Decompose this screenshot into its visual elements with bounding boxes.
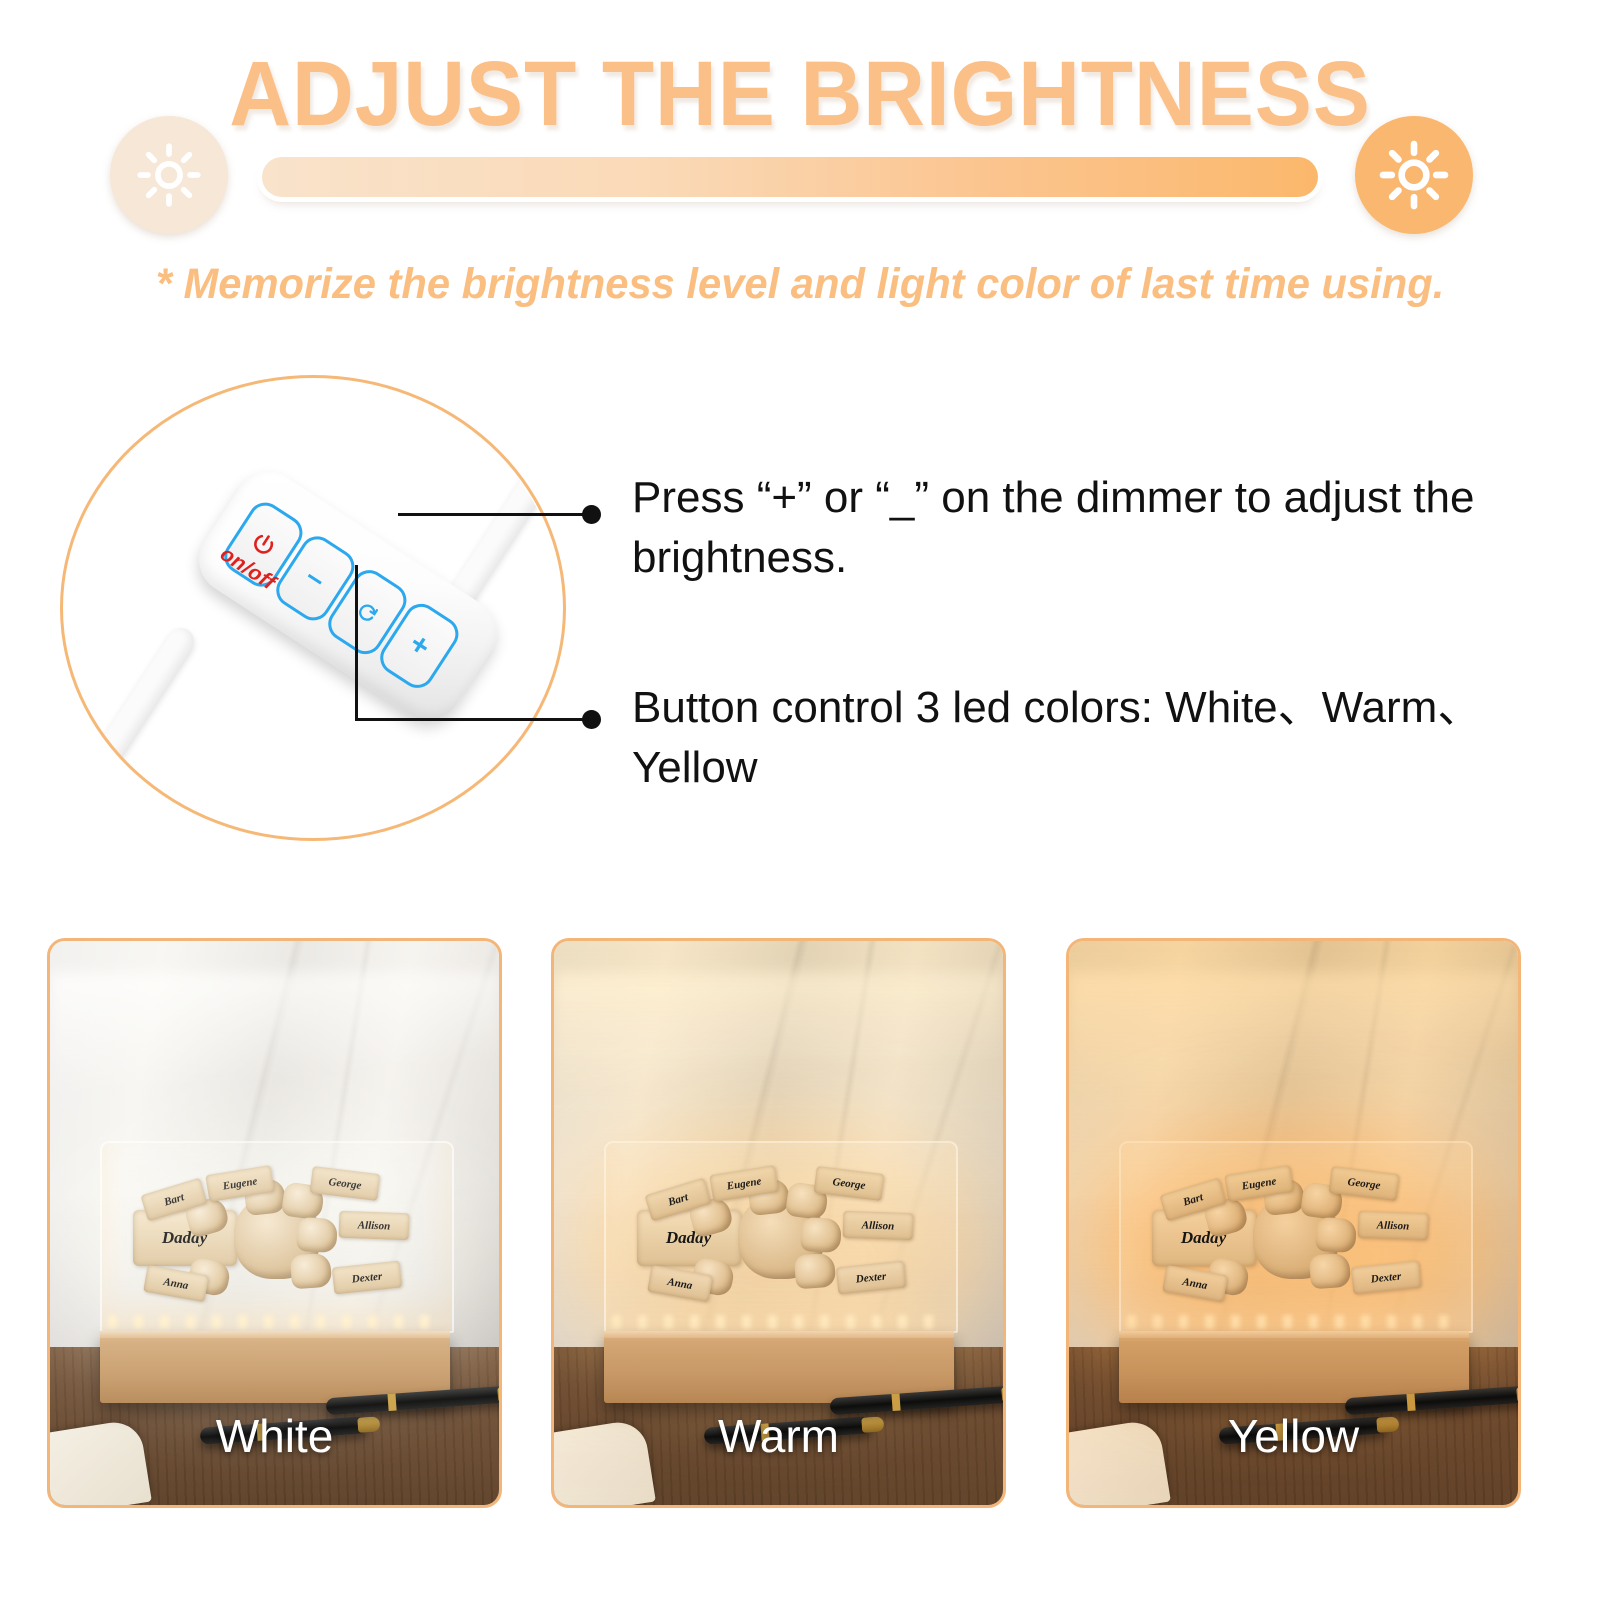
name-dexter: Dexter [1350,1261,1420,1295]
panel-caption-yellow: Yellow [1069,1409,1518,1463]
night-lamp: Daddy Bart Eugene George Allison Dexter [604,1141,954,1403]
fist [793,1253,835,1290]
name-allison: Allison [338,1211,409,1240]
led-strip [108,1315,446,1329]
acrylic-plaque: Daddy Bart Eugene George Allison Dexter [100,1141,454,1333]
engraved-artwork: Daddy Bart Eugene George Allison Dexter [1152,1172,1440,1302]
engraved-artwork: Daddy Bart Eugene George Allison Dexter [637,1172,925,1302]
acrylic-plaque: Daddy Bart Eugene George Allison Dexter [1119,1141,1473,1333]
name-dexter: Dexter [835,1261,905,1295]
panel-white[interactable]: Daddy Bart Eugene George Allison Dexter [47,938,502,1508]
night-lamp: Daddy Bart Eugene George Allison Dexter [100,1141,450,1403]
name-allison: Allison [1357,1211,1428,1240]
sun-dim-icon [110,116,228,234]
leader-dot-1 [582,505,601,524]
color-preview-panels: Daddy Bart Eugene George Allison Dexter [0,938,1600,1513]
leader-line-2-vertical [355,565,358,720]
fist [296,1217,338,1253]
led-strip [1127,1315,1465,1329]
device-section: – + on/off Press “+” or “_” on the dimme… [0,350,1600,910]
name-allison: Allison [842,1211,913,1240]
device-circle-frame [60,375,566,841]
leader-line-1 [398,513,588,516]
sun-bright-icon [1355,116,1473,234]
callout-brightness: Press “+” or “_” on the dimmer to adjust… [632,468,1512,588]
panel-yellow[interactable]: Daddy Bart Eugene George Allison Dexter [1066,938,1521,1508]
leader-line-2-horizontal [355,718,588,721]
leader-dot-2 [582,710,601,729]
fist [1308,1253,1350,1290]
header-note: * Memorize the brightness level and ligh… [24,258,1576,310]
panel-caption-warm: Warm [554,1409,1003,1463]
fist [289,1253,331,1290]
panel-caption-white: White [50,1409,499,1463]
acrylic-plaque: Daddy Bart Eugene George Allison Dexter [604,1141,958,1333]
header-section: ADJUST THE BRIGHTNESS * Memorize the bri… [0,0,1600,330]
panel-warm[interactable]: Daddy Bart Eugene George Allison Dexter [551,938,1006,1508]
fist [1315,1217,1357,1253]
name-dexter: Dexter [331,1261,401,1295]
callout-led-colors: Button control 3 led colors: White、Warm、… [632,678,1512,798]
brightness-slider[interactable] [262,157,1318,197]
page-title: ADJUST THE BRIGHTNESS [56,48,1544,140]
night-lamp: Daddy Bart Eugene George Allison Dexter [1119,1141,1469,1403]
fist [800,1217,842,1253]
engraved-artwork: Daddy Bart Eugene George Allison Dexter [133,1172,421,1302]
led-strip [612,1315,950,1329]
